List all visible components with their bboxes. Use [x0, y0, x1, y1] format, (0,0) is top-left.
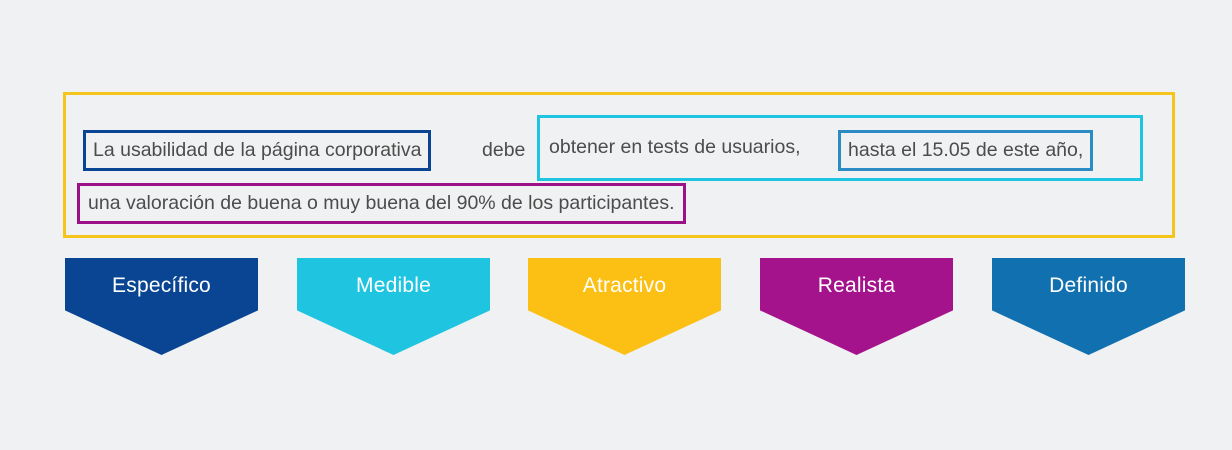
smart-goal-diagram: La usabilidad de la página corporativa d…	[0, 0, 1232, 450]
legend-banner-definido: Definido	[992, 258, 1185, 355]
legend-label-realista: Realista	[760, 274, 953, 298]
legend-label-especifico: Específico	[65, 274, 258, 298]
goal-statement: La usabilidad de la página corporativa d…	[0, 0, 1232, 450]
legend-banner-atractivo: Atractivo	[528, 258, 721, 355]
legend-banner-especifico: Específico	[65, 258, 258, 355]
legend-banner-realista: Realista	[760, 258, 953, 355]
legend-banners: Específico Medible Atractivo Realista De…	[0, 258, 1232, 368]
legend-banner-medible: Medible	[297, 258, 490, 355]
legend-label-definido: Definido	[992, 274, 1185, 298]
legend-label-atractivo: Atractivo	[528, 274, 721, 298]
segment-realistic: una valoración de buena o muy buena del …	[77, 183, 686, 224]
segment-connector: debe	[482, 130, 525, 171]
segment-specific: La usabilidad de la página corporativa	[83, 130, 431, 171]
legend-label-medible: Medible	[297, 274, 490, 298]
segment-time-bound: hasta el 15.05 de este año,	[838, 130, 1093, 171]
